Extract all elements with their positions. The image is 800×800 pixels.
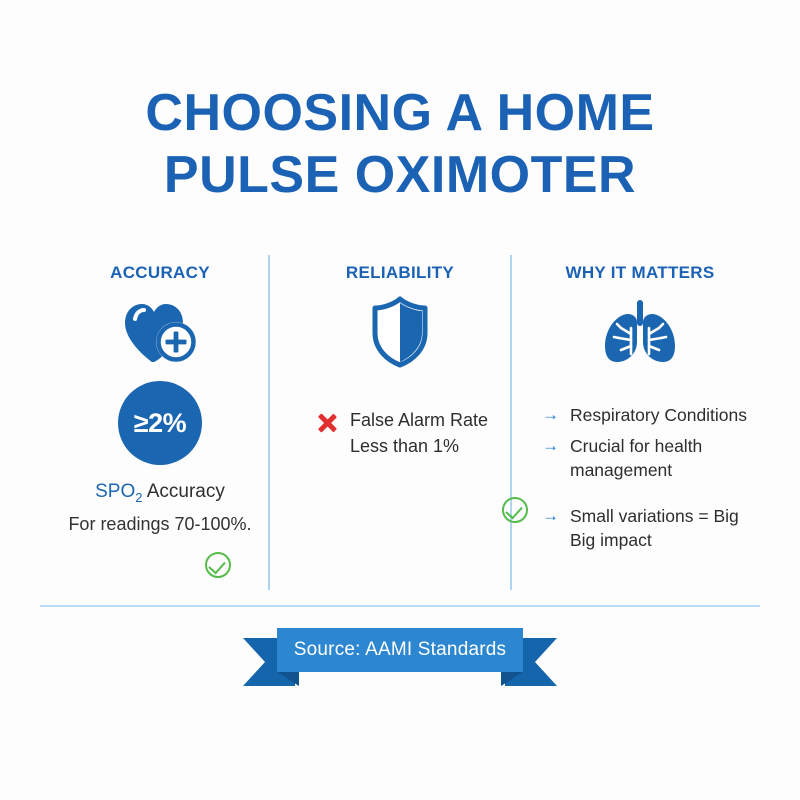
column-header-accuracy: ACCURACY xyxy=(40,252,280,283)
false-alarm-lines: False Alarm Rate Less than 1% xyxy=(350,407,488,459)
accuracy-word: Accuracy xyxy=(142,481,224,502)
spo2-label: SPO2 xyxy=(95,481,142,502)
column-header-reliability: RELIABILITY xyxy=(280,252,520,283)
title-line-1: CHOOSING A HOME xyxy=(0,82,800,144)
columns-container: ACCURACY ≥2% SPO2 Accuracy For readings … xyxy=(40,252,760,592)
bullet-line-1: Crucial for health xyxy=(570,436,702,456)
column-header-why-it-matters: WHY IT MATTERS xyxy=(520,252,760,283)
accuracy-subtext: For readings 70-100%. xyxy=(40,514,280,535)
list-item: → Respiratory Conditions xyxy=(542,403,760,427)
accuracy-check xyxy=(205,552,231,583)
accuracy-caption: SPO2 Accuracy xyxy=(40,479,280,511)
shield-icon xyxy=(280,289,520,375)
bullet-text: Small variations = Big Big impact xyxy=(570,504,739,552)
false-alarm-line-2: Less than 1% xyxy=(350,436,459,456)
column-reliability: RELIABILITY False Alarm Rate Less than 1… xyxy=(280,252,520,592)
page-title: CHOOSING A HOME PULSE OXIMOTER xyxy=(0,82,800,206)
ribbon-label: Source: AAMI Standards xyxy=(294,639,506,661)
arrow-right-icon: → xyxy=(542,434,562,455)
bullet-text: Respiratory Conditions xyxy=(570,403,747,427)
heart-plus-icon xyxy=(40,289,280,375)
accuracy-badge: ≥2% xyxy=(40,381,280,465)
bullet-line-1: Small variations = Big xyxy=(570,506,739,526)
source-ribbon: Source: AAMI Standards xyxy=(243,628,557,686)
column-why-it-matters: WHY IT MATTERS xyxy=(520,252,760,592)
arrow-right-icon: → xyxy=(542,504,562,525)
list-item: → Small variations = Big Big impact xyxy=(542,504,760,552)
false-alarm-statement: False Alarm Rate Less than 1% xyxy=(280,407,520,459)
check-circle-icon xyxy=(205,552,231,578)
bullet-line-2: management xyxy=(570,460,672,480)
x-mark-icon xyxy=(316,412,338,434)
accuracy-badge-value: ≥2% xyxy=(118,381,202,465)
spo2-text: SPO xyxy=(95,481,135,502)
bullet-line-2: Big impact xyxy=(570,530,652,550)
column-accuracy: ACCURACY ≥2% SPO2 Accuracy For readings … xyxy=(40,252,280,592)
bullet-line-1: Respiratory Conditions xyxy=(570,405,747,425)
arrow-right-icon: → xyxy=(542,403,562,424)
title-line-2: PULSE OXIMOTER xyxy=(0,144,800,206)
infographic-page: CHOOSING A HOME PULSE OXIMOTER ACCURACY … xyxy=(0,0,800,800)
why-bullets: → Respiratory Conditions → Crucial for h… xyxy=(520,403,760,552)
list-item: → Crucial for health management xyxy=(542,434,760,482)
bullet-text: Crucial for health management xyxy=(570,434,702,482)
ribbon-center: Source: AAMI Standards xyxy=(277,628,523,672)
lungs-icon xyxy=(520,289,760,375)
false-alarm-line-1: False Alarm Rate xyxy=(350,410,488,430)
footer-divider xyxy=(40,605,760,607)
